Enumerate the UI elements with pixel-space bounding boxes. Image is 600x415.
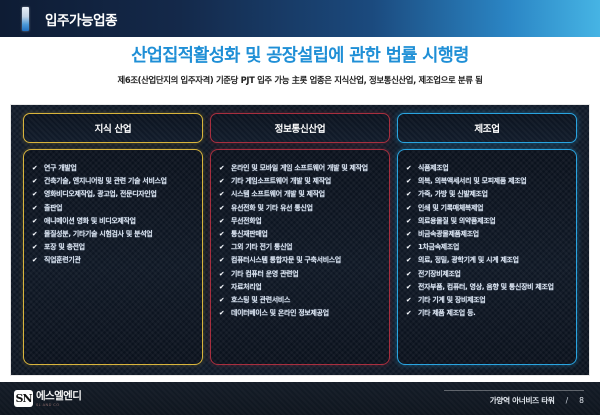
check-icon: ✔: [406, 217, 411, 226]
category-list-item-label: 데이터베이스 및 온라인 정보제공업: [231, 309, 329, 317]
category-list-item: ✔출판업: [32, 204, 195, 214]
category-list-item-label: 의료용물질 및 의약품제조업: [418, 217, 495, 225]
category-list-item-label: 온라인 및 모바일 게임 소프트웨어 개발 및 제작업: [231, 164, 368, 172]
category-column-knowledge: 지식 산업 ✔연구 개발업✔건축기술, 엔지니어링 및 관련 기술 서비스업✔영…: [23, 113, 203, 365]
check-icon: ✔: [219, 256, 224, 265]
category-list-item-label: 포장 및 충전업: [44, 243, 85, 251]
category-list-item: ✔기타 게임소프트웨어 개발 및 제작업: [219, 177, 382, 187]
category-list-item-label: 의복, 의복액세서리 및 모피제품 제조업: [418, 177, 526, 185]
category-list-item-label: 식품제조업: [418, 164, 448, 172]
header-accent-bar-icon: [22, 7, 29, 31]
check-icon: ✔: [32, 190, 37, 199]
category-list-item-label: 기타 컴퓨터 운영 관련업: [231, 270, 298, 278]
category-list-item-label: 의료, 정밀, 광학기계 및 시계 제조업: [418, 256, 519, 264]
category-list-item-label: 자료처리업: [231, 283, 261, 291]
footer-meta: 가양역 아너비즈 타워 / 8: [444, 390, 584, 408]
company-logo: SN 에스엘엔디 SL AND CO: [14, 390, 81, 407]
slide-header: 입주가능업종: [0, 0, 600, 37]
category-list-item-label: 1차금속제조업: [418, 243, 459, 251]
category-list-item-label: 그외 기타 전기 통신업: [231, 243, 292, 251]
category-list-item-label: 건축기술, 엔지니어링 및 관련 기술 서비스업: [44, 177, 167, 185]
check-icon: ✔: [32, 256, 37, 265]
category-list-item-label: 무선전화업: [231, 217, 261, 225]
check-icon: ✔: [406, 164, 411, 173]
logo-name-korean: 에스엘엔디: [36, 391, 81, 402]
category-list-item: ✔인쇄 및 기록매체복제업: [406, 204, 569, 214]
category-list-item: ✔무선전화업: [219, 217, 382, 227]
header-tab-label: 입주가능업종: [45, 9, 117, 29]
category-list-item-label: 시스템 소프트웨어 개발 및 제작업: [231, 190, 325, 198]
category-list-item-label: 기타 게임소프트웨어 개발 및 제작업: [231, 177, 331, 185]
category-list-item: ✔자료처리업: [219, 283, 382, 293]
category-list-item: ✔연구 개발업: [32, 164, 195, 174]
check-icon: ✔: [219, 270, 224, 279]
category-list-item-label: 인쇄 및 기록매체복제업: [418, 204, 483, 212]
category-list-item: ✔호스팅 및 관련서비스: [219, 296, 382, 306]
logo-mark-icon: SN: [14, 390, 33, 407]
slide-footer: SN 에스엘엔디 SL AND CO 가양역 아너비즈 타워 / 8: [0, 382, 600, 415]
category-heading: 제조업: [397, 113, 577, 143]
check-icon: ✔: [406, 177, 411, 186]
category-body: ✔연구 개발업✔건축기술, 엔지니어링 및 관련 기술 서비스업✔영화비디오제작…: [23, 149, 203, 365]
category-list-item: ✔통신재판매업: [219, 230, 382, 240]
category-list-item: ✔애니메이션 영화 및 비디오제작업: [32, 217, 195, 227]
category-list-item-label: 통신재판매업: [231, 230, 268, 238]
category-list-item: ✔기타 제품 제조업 등.: [406, 309, 569, 319]
category-item-list: ✔연구 개발업✔건축기술, 엔지니어링 및 관련 기술 서비스업✔영화비디오제작…: [32, 164, 195, 266]
category-list-item: ✔의료, 정밀, 광학기계 및 시계 제조업: [406, 256, 569, 266]
check-icon: ✔: [406, 243, 411, 252]
category-list-item: ✔기타 기계 및 장비제조업: [406, 296, 569, 306]
logo-text: 에스엘엔디 SL AND CO: [36, 391, 81, 407]
category-list-item: ✔시스템 소프트웨어 개발 및 제작업: [219, 190, 382, 200]
category-list-item: ✔물질성분, 기타기술 시험검사 및 분석업: [32, 230, 195, 240]
check-icon: ✔: [32, 217, 37, 226]
category-heading: 지식 산업: [23, 113, 203, 143]
check-icon: ✔: [219, 190, 224, 199]
check-icon: ✔: [32, 177, 37, 186]
logo-name-english: SL AND CO: [36, 403, 81, 407]
slide: 입주가능업종 산업집적활성화 및 공장설립에 관한 법률 시행령 제6조(산업단…: [0, 0, 600, 415]
category-list-item: ✔컴퓨터시스템 통합자문 및 구축서비스업: [219, 256, 382, 266]
check-icon: ✔: [406, 270, 411, 279]
category-list-item: ✔영화비디오제작업, 광고업, 전문디자인업: [32, 190, 195, 200]
footer-page-number: 8: [579, 396, 584, 405]
check-icon: ✔: [219, 230, 224, 239]
category-list-item-label: 가죽, 가방 및 신발제조업: [418, 190, 488, 198]
category-list-item-label: 직업훈련기관: [44, 256, 81, 264]
category-list-item-label: 비금속광물제품제조업: [418, 230, 479, 238]
category-list-item-label: 애니메이션 영화 및 비디오제작업: [44, 217, 136, 225]
check-icon: ✔: [219, 243, 224, 252]
title-block: 산업집적활성화 및 공장설립에 관한 법률 시행령 제6조(산업단지의 입주자격…: [0, 42, 600, 86]
category-list-item: ✔1차금속제조업: [406, 243, 569, 253]
category-list-item-label: 전자부품, 컴퓨터, 영상, 음향 및 통신장비 제조업: [418, 283, 554, 291]
category-list-item: ✔식품제조업: [406, 164, 569, 174]
check-icon: ✔: [219, 217, 224, 226]
category-list-item-label: 출판업: [44, 204, 62, 212]
page-title: 산업집적활성화 및 공장설립에 관한 법률 시행령: [0, 42, 600, 67]
category-body: ✔온라인 및 모바일 게임 소프트웨어 개발 및 제작업✔기타 게임소프트웨어 …: [210, 149, 390, 365]
category-list-item: ✔그외 기타 전기 통신업: [219, 243, 382, 253]
check-icon: ✔: [406, 204, 411, 213]
check-icon: ✔: [406, 256, 411, 265]
category-list-item: ✔직업훈련기관: [32, 256, 195, 266]
category-list-item: ✔포장 및 충전업: [32, 243, 195, 253]
check-icon: ✔: [406, 296, 411, 305]
category-list-item-label: 컴퓨터시스템 통합자문 및 구축서비스업: [231, 256, 341, 264]
category-list-item: ✔의복, 의복액세서리 및 모피제품 제조업: [406, 177, 569, 187]
category-column-manufacturing: 제조업 ✔식품제조업✔의복, 의복액세서리 및 모피제품 제조업✔가죽, 가방 …: [397, 113, 577, 365]
category-list-item-label: 물질성분, 기타기술 시험검사 및 분석업: [44, 230, 152, 238]
category-list-item: ✔전자부품, 컴퓨터, 영상, 음향 및 통신장비 제조업: [406, 283, 569, 293]
check-icon: ✔: [32, 164, 37, 173]
check-icon: ✔: [406, 283, 411, 292]
check-icon: ✔: [32, 243, 37, 252]
check-icon: ✔: [219, 164, 224, 173]
category-list-item: ✔데이터베이스 및 온라인 정보제공업: [219, 309, 382, 319]
category-body: ✔식품제조업✔의복, 의복액세서리 및 모피제품 제조업✔가죽, 가방 및 신발…: [397, 149, 577, 365]
category-list-item-label: 유선전화 및 기타 유선 통신업: [231, 204, 313, 212]
category-heading: 정보통신산업: [210, 113, 390, 143]
category-board: 지식 산업 ✔연구 개발업✔건축기술, 엔지니어링 및 관련 기술 서비스업✔영…: [10, 104, 590, 376]
check-icon: ✔: [219, 283, 224, 292]
category-list-item: ✔유선전화 및 기타 유선 통신업: [219, 204, 382, 214]
category-list-item: ✔온라인 및 모바일 게임 소프트웨어 개발 및 제작업: [219, 164, 382, 174]
category-list-item-label: 전기장비제조업: [418, 270, 461, 278]
check-icon: ✔: [32, 204, 37, 213]
category-list-item-label: 호스팅 및 관련서비스: [231, 296, 290, 304]
check-icon: ✔: [406, 230, 411, 239]
category-list-item: ✔가죽, 가방 및 신발제조업: [406, 190, 569, 200]
check-icon: ✔: [32, 230, 37, 239]
category-list-item: ✔전기장비제조업: [406, 270, 569, 280]
footer-project-name: 가양역 아너비즈 타워: [490, 395, 555, 406]
category-list-item-label: 기타 제품 제조업 등.: [418, 309, 476, 317]
category-item-list: ✔온라인 및 모바일 게임 소프트웨어 개발 및 제작업✔기타 게임소프트웨어 …: [219, 164, 382, 319]
check-icon: ✔: [219, 296, 224, 305]
category-item-list: ✔식품제조업✔의복, 의복액세서리 및 모피제품 제조업✔가죽, 가방 및 신발…: [406, 164, 569, 319]
category-list-item-label: 영화비디오제작업, 광고업, 전문디자인업: [44, 190, 157, 198]
category-list-item-label: 기타 기계 및 장비제조업: [418, 296, 485, 304]
check-icon: ✔: [219, 204, 224, 213]
check-icon: ✔: [219, 177, 224, 186]
check-icon: ✔: [406, 309, 411, 318]
category-list-item: ✔의료용물질 및 의약품제조업: [406, 217, 569, 227]
page-subtitle: 제6조(산업단지의 입주자격) 기준당 PJT 입주 가능 主롯 업종은 지식산…: [0, 74, 600, 86]
check-icon: ✔: [406, 190, 411, 199]
category-list-item: ✔비금속광물제품제조업: [406, 230, 569, 240]
category-list-item: ✔건축기술, 엔지니어링 및 관련 기술 서비스업: [32, 177, 195, 187]
category-column-ict: 정보통신산업 ✔온라인 및 모바일 게임 소프트웨어 개발 및 제작업✔기타 게…: [210, 113, 390, 365]
category-list-item: ✔기타 컴퓨터 운영 관련업: [219, 270, 382, 280]
category-list-item-label: 연구 개발업: [44, 164, 77, 172]
check-icon: ✔: [219, 309, 224, 318]
footer-separator: /: [566, 396, 569, 405]
